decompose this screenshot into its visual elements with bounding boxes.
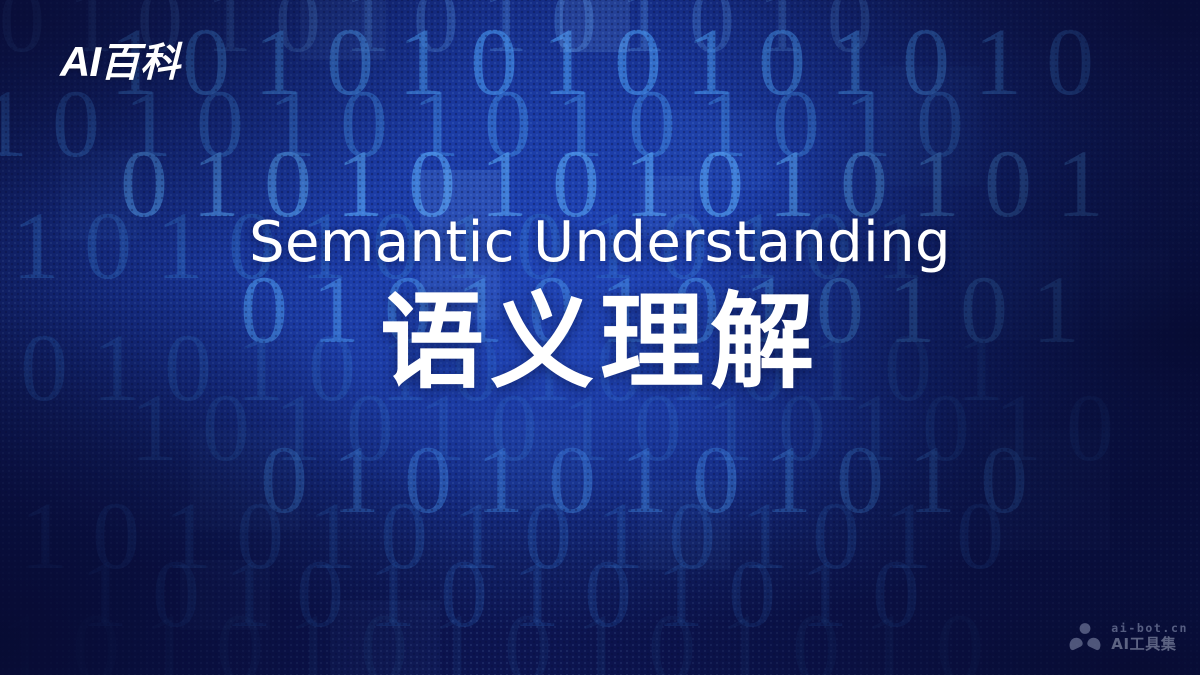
hero-title-chinese: 语义理解	[0, 289, 1200, 395]
watermark-url: ai-bot.cn	[1111, 622, 1188, 636]
hero-title-block: Semantic Understanding 语义理解	[0, 212, 1200, 395]
three-dots-cluster-icon	[1068, 622, 1102, 652]
watermark-text: ai-bot.cn AI工具集	[1111, 622, 1188, 653]
brand-logo-ai: AI	[60, 41, 100, 83]
watermark: ai-bot.cn AI工具集	[1068, 622, 1188, 653]
brand-logo[interactable]: AI 百科	[60, 41, 180, 83]
banner-canvas: 1 0 1 0 1 0 1 0 1 0 1 0 1 01 0 1 0 1 0 1…	[0, 0, 1200, 675]
hero-title-english: Semantic Understanding	[0, 212, 1200, 275]
watermark-name: AI工具集	[1111, 636, 1188, 653]
brand-logo-cn: 百科	[100, 43, 180, 83]
